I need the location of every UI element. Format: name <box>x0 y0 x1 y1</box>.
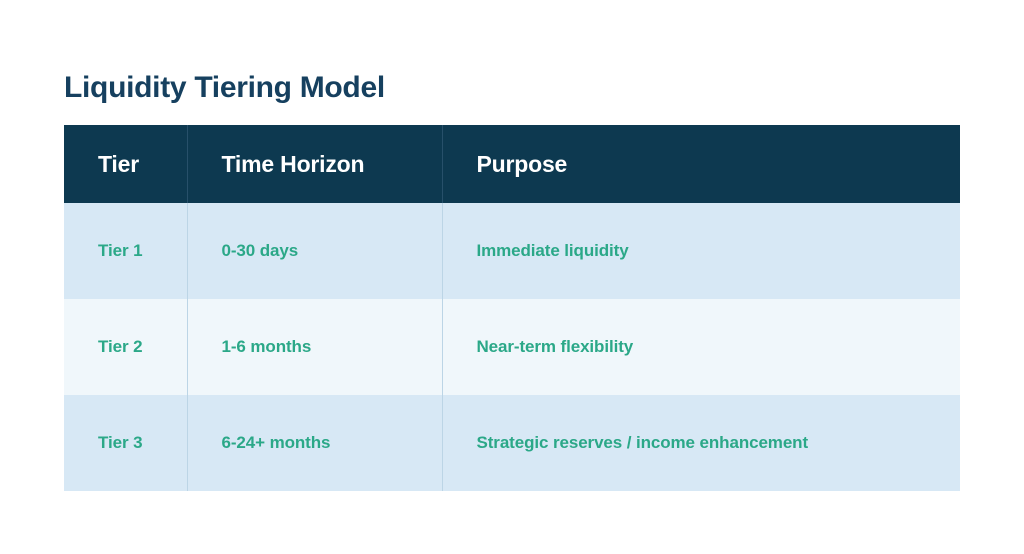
table-body: Tier 1 0-30 days Immediate liquidity Tie… <box>64 203 960 491</box>
page-root: Liquidity Tiering Model Tier Time Horizo… <box>0 0 1024 554</box>
cell-purpose: Strategic reserves / income enhancement <box>442 395 960 491</box>
column-header-time-horizon: Time Horizon <box>187 125 442 203</box>
table-row: Tier 3 6-24+ months Strategic reserves /… <box>64 395 960 491</box>
table-row: Tier 2 1-6 months Near-term flexibility <box>64 299 960 395</box>
table-header: Tier Time Horizon Purpose <box>64 125 960 203</box>
cell-tier: Tier 1 <box>64 203 187 299</box>
table-row: Tier 1 0-30 days Immediate liquidity <box>64 203 960 299</box>
liquidity-tiering-table: Tier Time Horizon Purpose Tier 1 0-30 da… <box>64 125 960 491</box>
cell-tier: Tier 2 <box>64 299 187 395</box>
cell-time-horizon: 0-30 days <box>187 203 442 299</box>
cell-purpose: Immediate liquidity <box>442 203 960 299</box>
column-header-tier: Tier <box>64 125 187 203</box>
cell-tier: Tier 3 <box>64 395 187 491</box>
cell-time-horizon: 6-24+ months <box>187 395 442 491</box>
cell-purpose: Near-term flexibility <box>442 299 960 395</box>
page-title: Liquidity Tiering Model <box>64 70 385 106</box>
table-header-row: Tier Time Horizon Purpose <box>64 125 960 203</box>
cell-time-horizon: 1-6 months <box>187 299 442 395</box>
column-header-purpose: Purpose <box>442 125 960 203</box>
liquidity-tiering-table-container: Tier Time Horizon Purpose Tier 1 0-30 da… <box>64 125 960 491</box>
